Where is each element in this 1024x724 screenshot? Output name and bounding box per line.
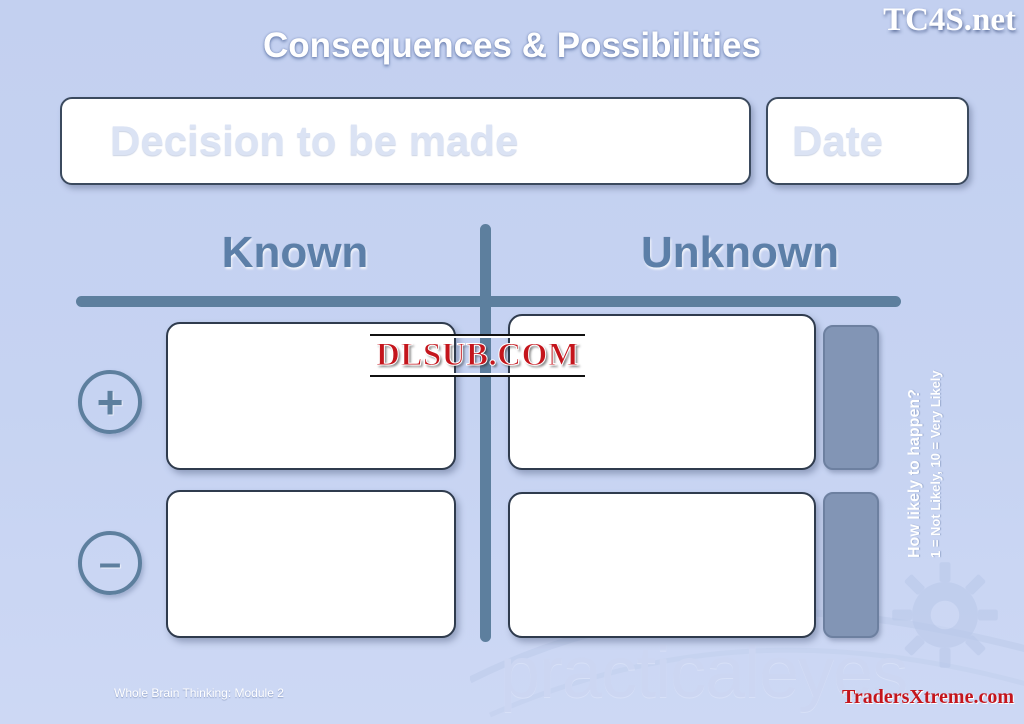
score-box-positive[interactable] — [823, 325, 879, 470]
minus-marker-icon: – — [78, 531, 142, 595]
plus-marker-icon: + — [78, 370, 142, 434]
scale-label-question: How likely to happen? — [906, 389, 924, 558]
tradersxtreme-brand: TradersXtreme.com — [842, 686, 1014, 709]
page-title: Consequences & Possibilities — [0, 26, 1024, 66]
scale-label-range: 1 = Not Likely, 10 = Very Likely — [928, 370, 943, 558]
decision-placeholder: Decision to be made — [62, 99, 749, 183]
cell-unknown-negative[interactable] — [508, 492, 816, 638]
vertical-axis-divider — [480, 224, 491, 642]
footer-note: Whole Brain Thinking: Module 2 — [114, 686, 284, 700]
column-heading-known: Known — [120, 228, 470, 278]
date-input[interactable]: Date — [766, 97, 969, 185]
cell-known-negative[interactable] — [166, 490, 456, 638]
score-box-negative[interactable] — [823, 492, 879, 638]
tc4s-brand: TC4S.net — [883, 2, 1016, 39]
dlsub-watermark: DLSUB.COM — [370, 334, 585, 377]
column-heading-unknown: Unknown — [540, 228, 940, 278]
date-placeholder: Date — [768, 99, 967, 183]
decision-input[interactable]: Decision to be made — [60, 97, 751, 185]
worksheet-page: practicaleyes Consequences & Possibiliti… — [0, 0, 1024, 724]
likelihood-scale-legend: How likely to happen? 1 = Not Likely, 10… — [884, 310, 944, 570]
